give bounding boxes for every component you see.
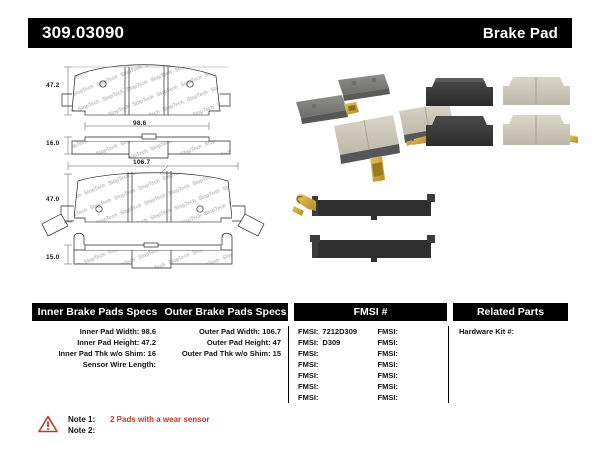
pad-outline-drawings: StopTech <box>28 54 278 284</box>
table-header-row: Inner Brake Pads Specs Outer Brake Pads … <box>32 303 568 321</box>
fmsi-label: FMSI: <box>378 349 398 358</box>
inner-pad-thickness-row: Inner Pad Thk w/o Shim: 16 <box>32 348 163 359</box>
fmsi-value <box>318 393 322 402</box>
inner-pad-thickness-dim: 16.0 <box>46 140 59 147</box>
fmsi-row: FMSI: <box>298 359 369 370</box>
header-outer-brake-pads-specs: Outer Brake Pads Specs <box>163 303 288 321</box>
fmsi-label: FMSI: <box>298 349 318 358</box>
title-banner: 309.03090 Brake Pad <box>28 18 572 48</box>
fmsi-row: FMSI: <box>378 337 449 348</box>
fmsi-value <box>318 360 322 369</box>
fmsi-value <box>318 382 322 391</box>
fmsi-value <box>318 349 322 358</box>
related-parts-column: Hardware Kit #: <box>449 326 564 403</box>
fmsi-value: D309 <box>318 338 340 347</box>
inner-pad-height-dim: 47.2 <box>46 82 59 89</box>
note-1-text: 2 Pads with a wear sensor <box>106 414 210 425</box>
warning-triangle-icon <box>38 415 58 433</box>
fmsi-label: FMSI: <box>378 360 398 369</box>
fmsi-label: FMSI: <box>378 327 398 336</box>
notes-section: Note 1: 2 Pads with a wear sensor Note 2… <box>38 414 210 436</box>
sensor-wire-length-row: Sensor Wire Length: <box>32 359 163 370</box>
outer-pad-width-dim: 106.7 <box>133 159 150 166</box>
fmsi-label: FMSI: <box>298 327 318 336</box>
fmsi-row: FMSI: <box>378 348 449 359</box>
fmsi-row: FMSI: <box>298 348 369 359</box>
fmsi-row: FMSI: <box>298 370 369 381</box>
fmsi-value <box>398 393 402 402</box>
fmsi-value <box>398 349 402 358</box>
fmsi-label: FMSI: <box>298 382 318 391</box>
note-rows: Note 1: 2 Pads with a wear sensor Note 2… <box>68 414 210 436</box>
inner-pad-width-dim: 98.6 <box>133 120 146 127</box>
fmsi-label: FMSI: <box>378 393 398 402</box>
note-1-row: Note 1: 2 Pads with a wear sensor <box>68 414 210 425</box>
fmsi-row: FMSI: <box>298 392 369 403</box>
fmsi-label: FMSI: <box>298 338 318 347</box>
part-number: 309.03090 <box>42 23 124 43</box>
header-related-parts: Related Parts <box>453 303 568 321</box>
fmsi-value <box>398 360 402 369</box>
fmsi-row: FMSI:D309 <box>298 337 369 348</box>
fmsi-row: FMSI: <box>378 381 449 392</box>
inner-pad-width-row: Inner Pad Width: 98.6 <box>32 326 163 337</box>
fmsi-label: FMSI: <box>298 393 318 402</box>
fmsi-value <box>398 382 402 391</box>
fmsi-label: FMSI: <box>378 371 398 380</box>
technical-drawings: 47.2 98.6 16.0 106.7 47.0 15.0 StopTech <box>28 54 278 284</box>
fmsi-row: FMSI: <box>378 326 449 337</box>
fmsi-right-list: FMSI: FMSI: FMSI: FMSI: FMSI: FMSI: FMSI… <box>369 326 449 403</box>
fmsi-value <box>398 327 402 336</box>
photo-edge-view-pads <box>292 194 435 262</box>
fmsi-value <box>318 371 322 380</box>
page-title: Brake Pad <box>483 25 558 42</box>
outer-pad-thickness-dim: 15.0 <box>46 254 59 261</box>
fmsi-value <box>398 338 402 347</box>
fmsi-value: 7212D309 <box>318 327 357 336</box>
note-2-row: Note 2: <box>68 425 210 436</box>
header-fmsi: FMSI # <box>294 303 447 321</box>
outer-specs-column: Outer Pad Width: 106.7 Outer Pad Height:… <box>163 326 288 403</box>
note-1-label: Note 1: <box>68 414 106 425</box>
fmsi-row: FMSI: <box>298 381 369 392</box>
fmsi-row: FMSI:7212D309 <box>298 326 369 337</box>
fmsi-row: FMSI: <box>378 370 449 381</box>
note-2-label: Note 2: <box>68 425 106 436</box>
inner-pad-height-row: Inner Pad Height: 47.2 <box>32 337 163 348</box>
fmsi-value <box>398 371 402 380</box>
fmsi-left-list: FMSI:7212D309 FMSI:D309 FMSI: FMSI: FMSI… <box>289 326 369 403</box>
fmsi-label: FMSI: <box>298 371 318 380</box>
fmsi-column: FMSI:7212D309 FMSI:D309 FMSI: FMSI: FMSI… <box>289 326 448 403</box>
fmsi-label: FMSI: <box>298 360 318 369</box>
outer-pad-thickness-row: Outer Pad Thk w/o Shim: 15 <box>163 348 288 359</box>
outer-pad-height-row: Outer Pad Height: 47 <box>163 337 288 348</box>
specs-table: Inner Brake Pads Specs Outer Brake Pads … <box>32 303 568 403</box>
outer-pad-width-row: Outer Pad Width: 106.7 <box>163 326 288 337</box>
fmsi-label: FMSI: <box>378 338 398 347</box>
outer-pad-height-dim: 47.0 <box>46 196 59 203</box>
hardware-kit-row: Hardware Kit #: <box>459 326 564 337</box>
fmsi-row: FMSI: <box>378 359 449 370</box>
fmsi-row: FMSI: <box>378 392 449 403</box>
inner-specs-column: Inner Pad Width: 98.6 Inner Pad Height: … <box>32 326 163 403</box>
product-photos <box>286 54 578 284</box>
header-inner-brake-pads-specs: Inner Brake Pads Specs <box>32 303 163 321</box>
table-body: Inner Pad Width: 98.6 Inner Pad Height: … <box>32 321 568 403</box>
fmsi-label: FMSI: <box>378 382 398 391</box>
